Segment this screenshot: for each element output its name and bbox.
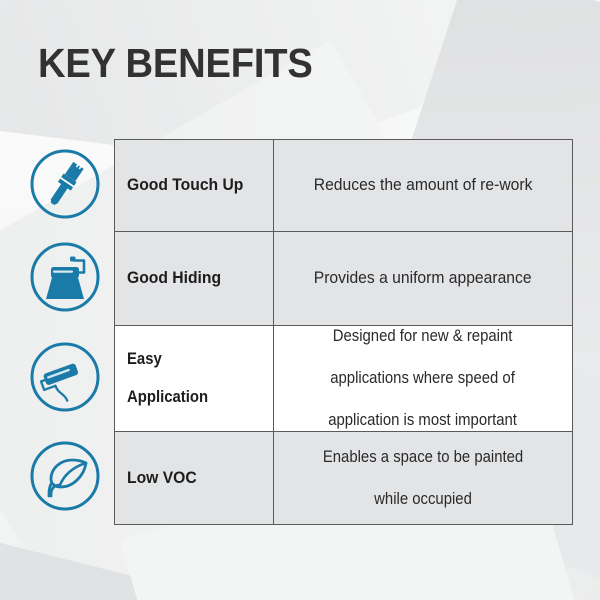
benefit-description-line-2: while occupied <box>323 489 523 510</box>
paint-roller-vertical-icon <box>29 241 101 313</box>
benefit-description-line-1: Enables a space to be painted <box>323 447 523 468</box>
benefit-icon-3 <box>28 324 102 430</box>
benefit-description: Provides a uniform appearance <box>314 268 532 289</box>
paint-roller-tilted-icon <box>29 341 101 413</box>
benefit-icon-column <box>28 138 102 522</box>
page-title: KEY BENEFITS <box>38 41 313 85</box>
benefit-label: Easy Application <box>127 350 212 407</box>
infographic-canvas: KEY BENEFITS <box>0 0 600 600</box>
benefit-description-cell: Reduces the amount of re-work <box>274 140 572 231</box>
benefit-icon-2 <box>28 230 102 324</box>
benefit-label: Low VOC <box>127 469 197 488</box>
paintbrush-icon <box>29 148 101 220</box>
table-row: Good Touch Up Reduces the amount of re-w… <box>115 140 572 232</box>
benefit-description: Designed for new & repaint applications … <box>324 326 523 431</box>
benefit-label-line-1: Easy <box>127 350 208 369</box>
benefit-label-cell: Good Touch Up <box>115 140 274 231</box>
benefit-icon-4 <box>28 430 102 522</box>
benefit-label-cell: Good Hiding <box>115 232 274 325</box>
table-row: Easy Application Designed for new & repa… <box>115 326 572 432</box>
leaf-icon <box>29 440 101 512</box>
benefit-description-line-3: application is most important <box>329 410 518 431</box>
benefit-label-cell: Low VOC <box>115 432 274 524</box>
benefit-description: Enables a space to be painted while occu… <box>318 447 529 510</box>
benefit-description-cell: Enables a space to be painted while occu… <box>274 432 572 524</box>
table-row: Low VOC Enables a space to be painted wh… <box>115 432 572 524</box>
benefit-description-cell: Provides a uniform appearance <box>274 232 572 325</box>
benefit-description-line-2: applications where speed of <box>329 368 518 389</box>
benefit-icon-1 <box>28 138 102 230</box>
benefit-description: Reduces the amount of re-work <box>314 175 533 196</box>
table-row: Good Hiding Provides a uniform appearanc… <box>115 232 572 326</box>
benefit-description-cell: Designed for new & repaint applications … <box>274 326 572 431</box>
benefit-label: Good Hiding <box>127 269 221 288</box>
benefit-label-cell: Easy Application <box>115 326 274 431</box>
benefit-description-line-1: Designed for new & repaint <box>329 326 518 347</box>
benefit-label-line-2: Application <box>127 388 208 407</box>
benefit-label: Good Touch Up <box>127 176 243 195</box>
benefits-table: Good Touch Up Reduces the amount of re-w… <box>114 139 573 525</box>
